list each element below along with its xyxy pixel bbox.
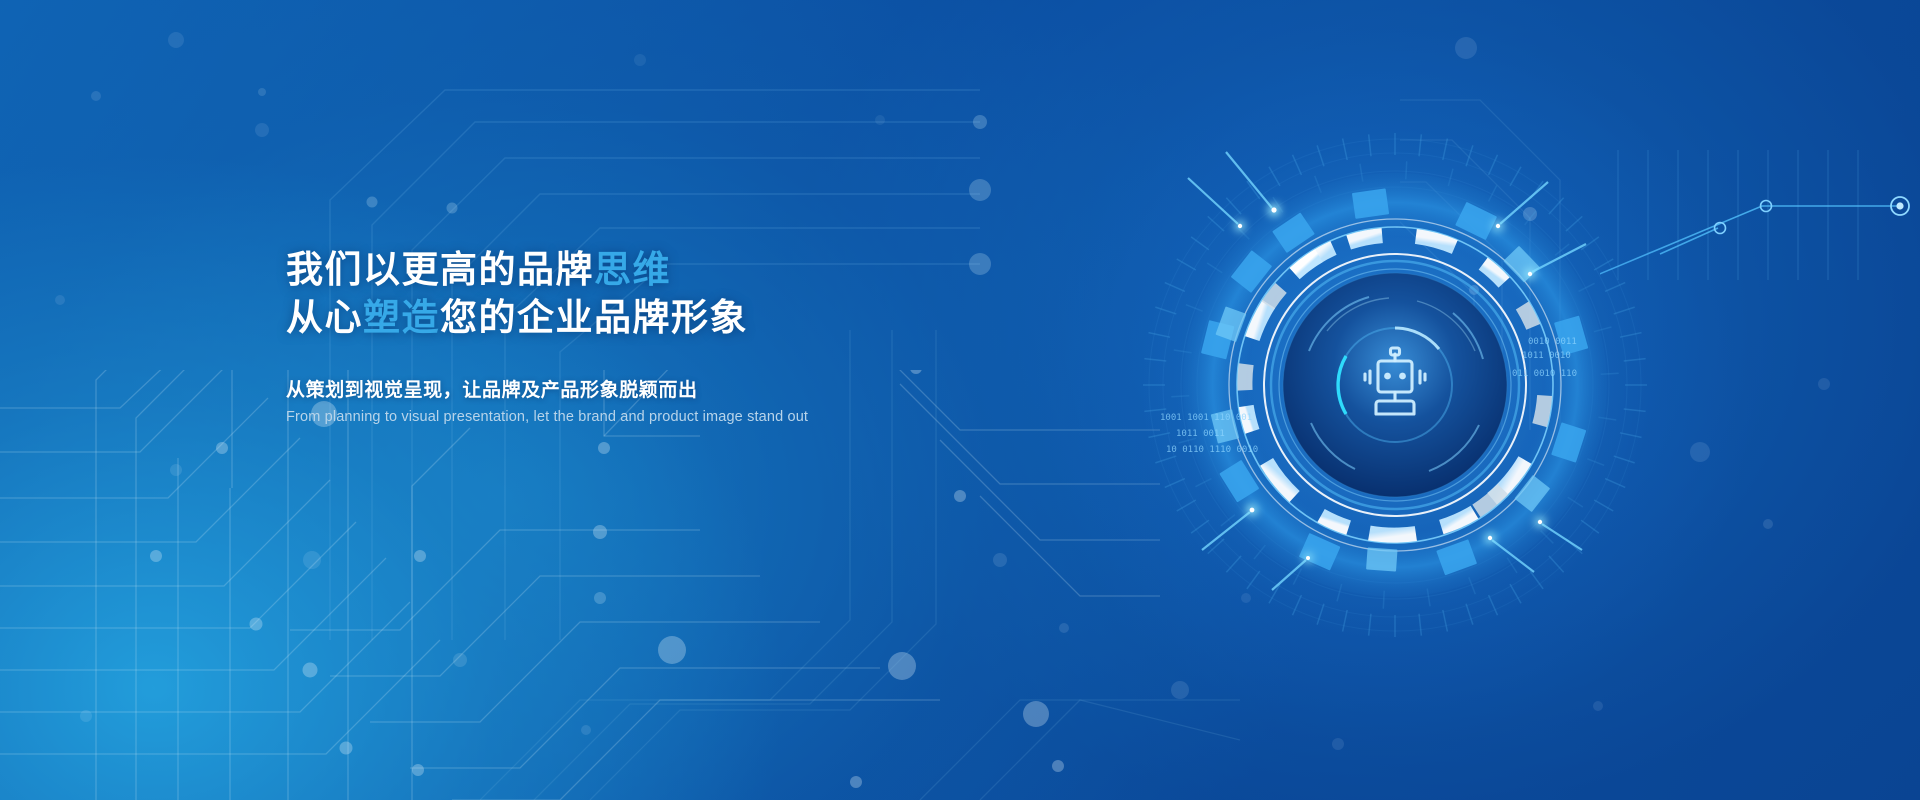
subtitle-english: From planning to visual presentation, le…	[286, 409, 1106, 425]
binary-6: 10 0110 1110 0010	[1166, 445, 1258, 455]
binary-3: 011 0010 110	[1512, 369, 1577, 379]
binary-5: 1011 0011	[1176, 429, 1225, 439]
binary-1: 0010 0011	[1528, 337, 1577, 347]
binary-4: 1001 1001 110 001	[1160, 413, 1252, 423]
headline-line-1: 我们以更高的品牌思维	[286, 246, 1106, 294]
headline-line-2: 从心塑造您的企业品牌形象	[286, 294, 1106, 342]
subtitle-chinese: 从策划到视觉呈现，让品牌及产品形象脱颖而出	[286, 375, 1106, 402]
headline-line-1-highlight: 思维	[594, 249, 671, 290]
circuit-bottom-left	[0, 370, 1160, 800]
headline-line-1-plain: 我们以更高的品牌	[286, 249, 594, 290]
hud-core	[1283, 273, 1507, 497]
hero-banner: 0010 0011 1011 0010 011 0010 110 1001 10…	[0, 0, 1920, 800]
tech-hud-graphic: 0010 0011 1011 0010 011 0010 110 1001 10…	[1130, 120, 1660, 650]
hud-rings: 0010 0011 1011 0010 011 0010 110 1001 10…	[1130, 120, 1660, 650]
headline-line-2-plain-before: 从心	[286, 297, 363, 338]
headline-line-2-plain-after: 您的企业品牌形象	[440, 297, 748, 338]
hero-copy: 我们以更高的品牌思维 从心塑造您的企业品牌形象 从策划到视觉呈现，让品牌及产品形…	[286, 246, 1106, 425]
binary-2: 1011 0010	[1522, 351, 1571, 361]
headline-line-2-highlight: 塑造	[363, 297, 440, 338]
